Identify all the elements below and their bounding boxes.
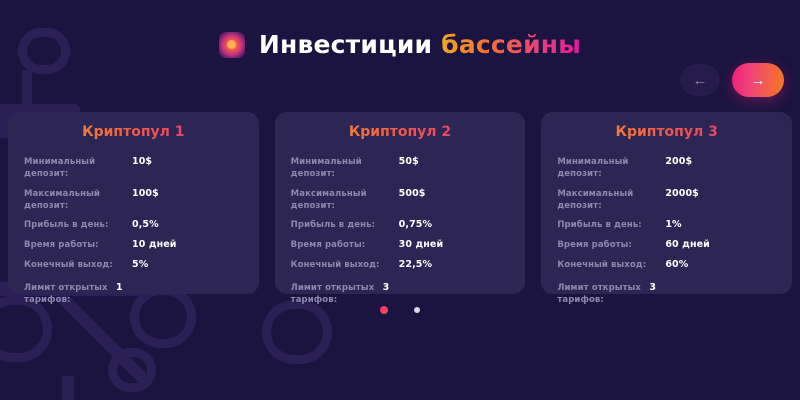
row-work-time: Время работы: 10 дней — [24, 239, 243, 252]
row-open-tariffs-limit: Лимит открытых тарифов: 3 — [557, 282, 776, 307]
row-profit-per-day: Прибыль в день: 0,5% — [24, 219, 243, 232]
page-title-accent: бассейны — [441, 30, 581, 59]
pool-card[interactable]: Криптопул 3 Минимальный депозит: 200$ Ма… — [541, 112, 792, 294]
row-label: Время работы: — [24, 239, 132, 251]
row-value: 60% — [665, 259, 688, 272]
pool-card-title: Криптопул 3 — [557, 124, 776, 140]
row-label: Время работы: — [291, 239, 399, 251]
row-label: Конечный выход: — [24, 259, 132, 271]
row-label: Лимит открытых тарифов: — [24, 282, 116, 307]
row-open-tariffs-limit: Лимит открытых тарифов: 3 — [291, 282, 510, 307]
pool-card-title: Криптопул 1 — [24, 124, 243, 140]
row-value: 1 — [116, 282, 123, 295]
row-max-deposit: Максимальный депозит: 100$ — [24, 188, 243, 213]
row-value: 10$ — [132, 156, 152, 169]
row-work-time: Время работы: 30 дней — [291, 239, 510, 252]
row-value: 0,5% — [132, 219, 159, 232]
row-label: Максимальный депозит: — [24, 188, 132, 213]
row-label: Конечный выход: — [291, 259, 399, 271]
row-value: 2000$ — [665, 188, 699, 201]
row-min-deposit: Минимальный депозит: 50$ — [291, 156, 510, 181]
row-max-deposit: Максимальный депозит: 2000$ — [557, 188, 776, 213]
carousel-pagination — [0, 306, 800, 314]
row-max-deposit: Максимальный депозит: 500$ — [291, 188, 510, 213]
row-min-deposit: Минимальный депозит: 10$ — [24, 156, 243, 181]
pool-card-rows: Минимальный депозит: 10$ Максимальный де… — [24, 156, 243, 306]
row-label: Максимальный депозит: — [557, 188, 665, 213]
row-profit-per-day: Прибыль в день: 1% — [557, 219, 776, 232]
carousel-navigation: ← → — [680, 63, 784, 97]
page-header: Инвестиции бассейны — [0, 30, 800, 59]
row-final-output: Конечный выход: 60% — [557, 259, 776, 272]
pool-card[interactable]: Криптопул 1 Минимальный депозит: 10$ Мак… — [8, 112, 259, 294]
row-value: 50$ — [399, 156, 419, 169]
pool-card-rows: Минимальный депозит: 200$ Максимальный д… — [557, 156, 776, 306]
row-label: Время работы: — [557, 239, 665, 251]
row-value: 3 — [649, 282, 656, 295]
row-work-time: Время работы: 60 дней — [557, 239, 776, 252]
row-label: Минимальный депозит: — [557, 156, 665, 181]
row-label: Лимит открытых тарифов: — [291, 282, 383, 307]
decor-key-stem — [22, 70, 32, 110]
carousel-prev-button[interactable]: ← — [680, 64, 720, 96]
row-profit-per-day: Прибыль в день: 0,75% — [291, 219, 510, 232]
row-open-tariffs-limit: Лимит открытых тарифов: 1 — [24, 282, 243, 307]
decor-vertical-line — [62, 376, 74, 400]
row-label: Прибыль в день: — [24, 219, 132, 231]
pagination-dot-active[interactable] — [380, 306, 388, 314]
row-value: 22,5% — [399, 259, 432, 272]
row-value: 1% — [665, 219, 681, 232]
decor-circle-bottom-left-3 — [108, 348, 156, 392]
row-label: Конечный выход: — [557, 259, 665, 271]
row-label: Прибыль в день: — [291, 219, 399, 231]
row-value: 30 дней — [399, 239, 444, 252]
investment-pools-page: Инвестиции бассейны ← → Криптопул 1 Мини… — [0, 0, 800, 400]
pagination-dot[interactable] — [414, 307, 420, 313]
row-label: Минимальный депозит: — [291, 156, 399, 181]
crypto-pool-logo-icon — [219, 32, 245, 58]
row-label: Лимит открытых тарифов: — [557, 282, 649, 307]
pool-card[interactable]: Криптопул 2 Минимальный депозит: 50$ Мак… — [275, 112, 526, 294]
row-value: 10 дней — [132, 239, 177, 252]
page-title-primary: Инвестиции — [259, 30, 432, 59]
row-value: 100$ — [132, 188, 159, 201]
row-value: 3 — [383, 282, 390, 295]
pool-card-title: Криптопул 2 — [291, 124, 510, 140]
row-final-output: Конечный выход: 5% — [24, 259, 243, 272]
carousel-next-button[interactable]: → — [732, 63, 784, 97]
pool-card-list: Криптопул 1 Минимальный депозит: 10$ Мак… — [8, 112, 792, 294]
row-value: 5% — [132, 259, 148, 272]
arrow-left-icon: ← — [693, 72, 708, 89]
page-title: Инвестиции бассейны — [259, 30, 581, 59]
row-min-deposit: Минимальный депозит: 200$ — [557, 156, 776, 181]
row-final-output: Конечный выход: 22,5% — [291, 259, 510, 272]
row-value: 200$ — [665, 156, 692, 169]
row-label: Прибыль в день: — [557, 219, 665, 231]
pool-card-rows: Минимальный депозит: 50$ Максимальный де… — [291, 156, 510, 306]
row-value: 60 дней — [665, 239, 710, 252]
row-value: 0,75% — [399, 219, 432, 232]
arrow-right-icon: → — [751, 72, 766, 89]
row-value: 500$ — [399, 188, 426, 201]
row-label: Максимальный депозит: — [291, 188, 399, 213]
row-label: Минимальный депозит: — [24, 156, 132, 181]
